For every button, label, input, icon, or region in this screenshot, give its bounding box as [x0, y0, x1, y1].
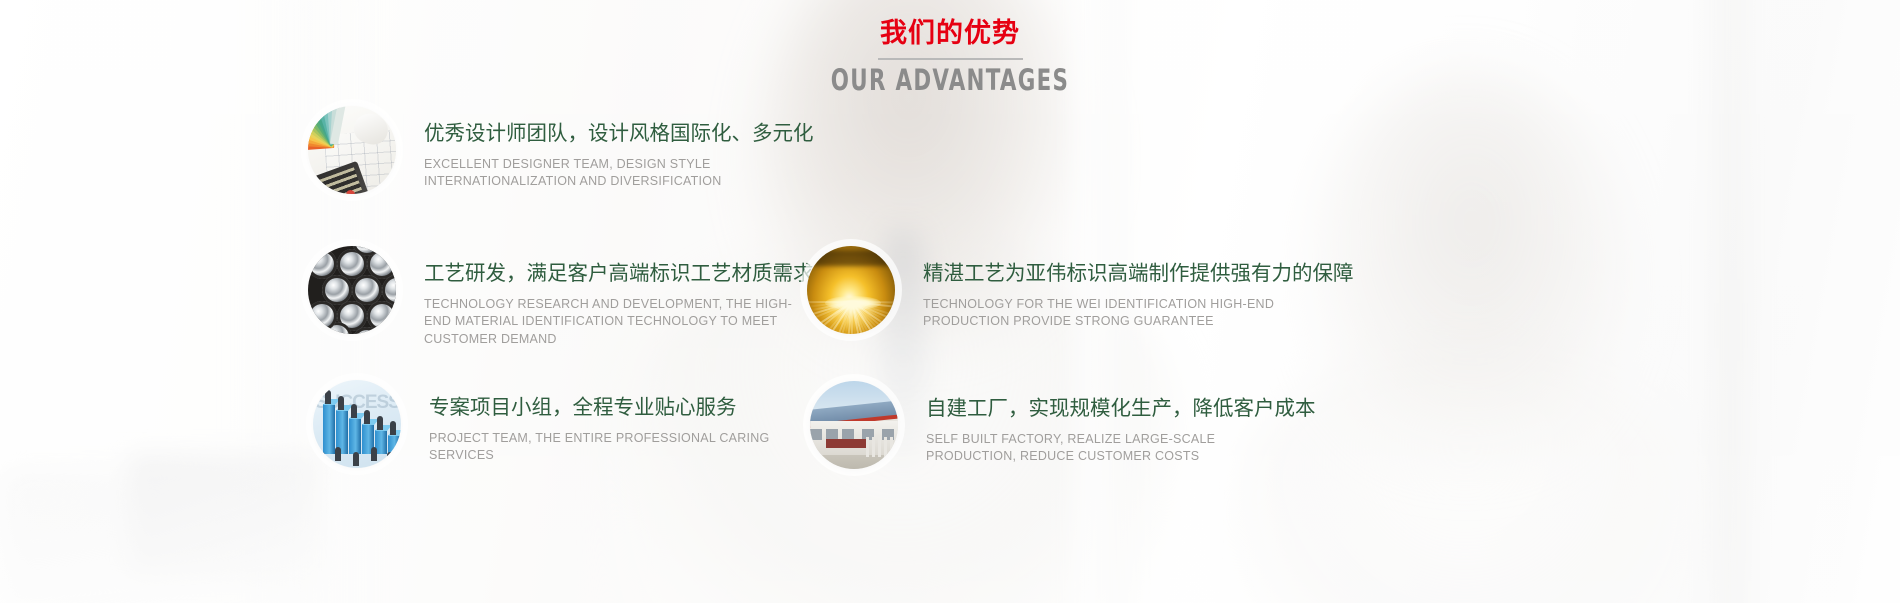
feature-title-en: PROJECT TEAM, THE ENTIRE PROFESSIONAL CA…: [429, 430, 809, 466]
feature-title-en: SELF BUILT FACTORY, REALIZE LARGE-SCALE …: [926, 431, 1306, 467]
section-header: 我们的优势 OUR ADVANTAGES: [0, 18, 1900, 97]
feature-item-self-built-factory[interactable]: 自建工厂，实现规模化生产，降低客户成本 SELF BUILT FACTORY, …: [810, 381, 1316, 469]
feature-title-en: EXCELLENT DESIGNER TEAM, DESIGN STYLE IN…: [424, 156, 804, 192]
feature-item-designer-team[interactable]: 优秀设计师团队，设计风格国际化、多元化 EXCELLENT DESIGNER T…: [308, 106, 814, 194]
feature-item-craftsmanship[interactable]: 精湛工艺为亚伟标识高端制作提供强有力的保障 TECHNOLOGY FOR THE…: [807, 246, 1354, 334]
color-swatch-blueprint-icon: [308, 106, 396, 194]
feature-title-cn: 精湛工艺为亚伟标识高端制作提供强有力的保障: [923, 261, 1354, 287]
page-title-cn: 我们的优势: [0, 18, 1900, 49]
business-growth-chart-icon: SUCCESS: [313, 380, 401, 468]
feature-title-en: TECHNOLOGY FOR THE WEI IDENTIFICATION HI…: [923, 296, 1303, 332]
welding-sparks-icon: [807, 246, 895, 334]
feature-title-cn: 自建工厂，实现规模化生产，降低客户成本: [926, 396, 1316, 422]
feature-item-project-team[interactable]: SUCCESS 专案项目小组，全程专业贴心服务 PROJECT TEAM, TH…: [313, 380, 809, 468]
metal-pipes-icon: [308, 246, 396, 334]
feature-title-cn: 工艺研发，满足客户高端标识工艺材质需求: [424, 261, 814, 287]
feature-title-en: TECHNOLOGY RESEARCH AND DEVELOPMENT, THE…: [424, 296, 804, 349]
factory-building-icon: [810, 381, 898, 469]
title-divider: [878, 58, 1023, 60]
feature-title-cn: 专案项目小组，全程专业贴心服务: [429, 395, 809, 421]
page-title-en: OUR ADVANTAGES: [171, 65, 1729, 97]
feature-item-technology-rd[interactable]: 工艺研发，满足客户高端标识工艺材质需求 TECHNOLOGY RESEARCH …: [308, 246, 814, 349]
feature-title-cn: 优秀设计师团队，设计风格国际化、多元化: [424, 121, 814, 147]
